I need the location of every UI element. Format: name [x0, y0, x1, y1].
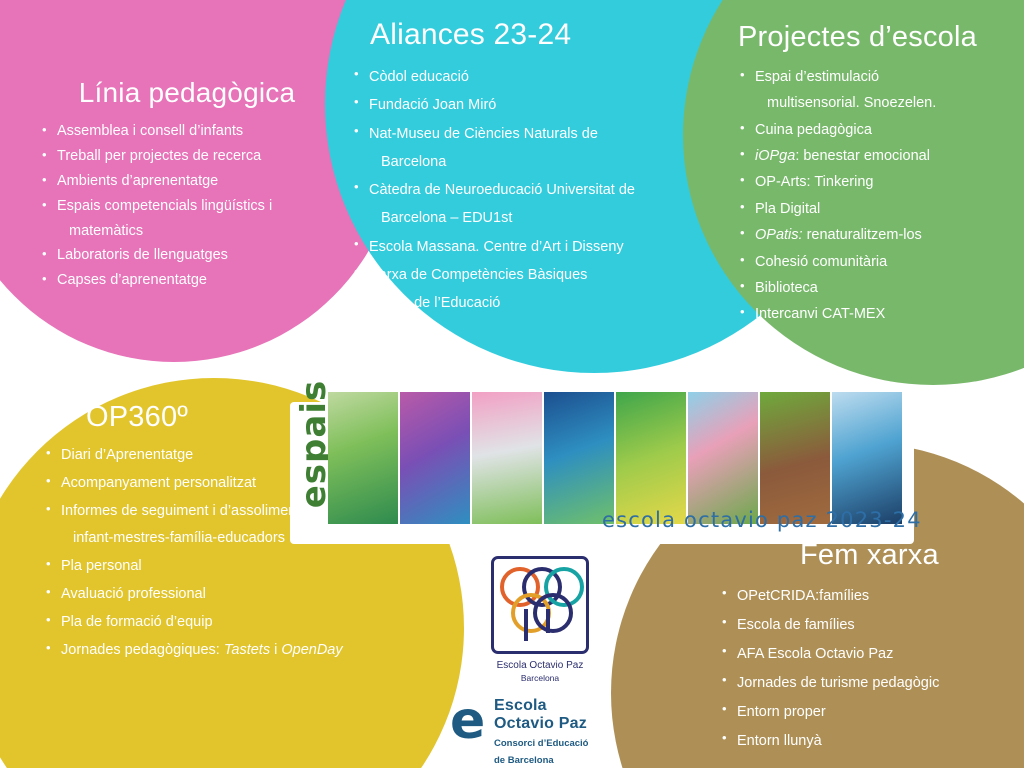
letter-l-tree-icon: L	[760, 392, 830, 524]
letter-a-coral-icon: A	[400, 392, 470, 524]
list-item: Entorn llunyà	[706, 727, 1024, 756]
panel-aliances: Aliances 23-24 Còdol educació Fundació J…	[352, 18, 682, 317]
consorci-e-glyph-icon: e	[450, 699, 492, 743]
list-aliances: Còdol educació Fundació Joan Miró Nat-Mu…	[352, 63, 682, 317]
panel-title-projectes: Projectes d’escola	[738, 22, 1024, 54]
list-item: Futurs de l’Educació	[352, 289, 682, 317]
panel-linia-pedagogica: Línia pedagògica Assemblea i consell d’i…	[40, 78, 340, 293]
consorci-line2: Octavio Paz	[494, 715, 630, 733]
list-item: Capses d’aprenentatge	[40, 268, 340, 293]
list-item-continuation: multisensorial. Snoezelen.	[738, 90, 1024, 116]
list-item: Intercanvi CAT-MEX	[738, 301, 1024, 327]
letter-r-recycle-icon: R	[616, 392, 686, 524]
list-linia: Assemblea i consell d’infants Treball pe…	[40, 119, 340, 294]
list-item: Pla personal	[44, 553, 404, 581]
letter-n-leaves-icon: N	[328, 392, 398, 524]
list-fem-xarxa: OPetCRIDA:famílies Escola de famílies AF…	[706, 582, 1024, 756]
op-logo-caption: Escola Octavio Paz Barcelona	[450, 660, 630, 683]
emphasis-opatis: OPatis:	[755, 227, 803, 243]
list-item-text: : benestar emocional	[795, 148, 930, 164]
list-item-text: Jornades pedagògiques:	[61, 642, 224, 658]
letter-s-birds-icon: S	[832, 392, 902, 524]
list-item: Nat-Museu de Ciències Naturals de	[352, 120, 682, 148]
list-item: Xarxa de Competències Bàsiques	[352, 261, 682, 289]
list-item-iopga: iOPga: benestar emocional	[738, 143, 1024, 169]
naturals-letters: N A T U R A L S	[328, 374, 904, 524]
list-item: Escola de famílies	[706, 611, 1024, 640]
list-item: Pla de formació d’equip	[44, 609, 404, 637]
list-item: Escola Massana. Centre d’Art i Disseny	[352, 233, 682, 261]
list-item: Laboratoris de llenguatges	[40, 243, 340, 268]
op-rings-logo-icon	[491, 556, 589, 654]
naturals-artwork: espais N A T U R A L S escola octavio pa…	[272, 368, 932, 548]
letter-a-flamingo-icon: A	[688, 392, 758, 524]
poster-canvas: Línia pedagògica Assemblea i consell d’i…	[0, 0, 1024, 768]
list-item: Jornades de turisme pedagògic	[706, 669, 1024, 698]
consorci-subtitle1: Consorci d’Educació	[494, 738, 630, 750]
list-item-jornades: Jornades pedagògiques: Tastets i OpenDay	[44, 637, 404, 665]
list-item: Entorn proper	[706, 698, 1024, 727]
list-item: Assemblea i consell d’infants	[40, 119, 340, 144]
list-item-continuation: Barcelona	[352, 148, 682, 176]
op-logo-school-name: Escola Octavio Paz	[450, 660, 630, 673]
emphasis-iopga: iOPga	[755, 148, 795, 164]
list-item: Biblioteca	[738, 275, 1024, 301]
op-logo-city: Barcelona	[450, 673, 630, 684]
list-item-text: renaturalitzem-los	[803, 227, 922, 243]
panel-title-aliances: Aliances 23-24	[352, 18, 682, 51]
letter-t-windmill-icon: T	[472, 392, 542, 524]
list-item: Avaluació professional	[44, 581, 404, 609]
school-logo-block: Escola Octavio Paz Barcelona e Escola Oc…	[450, 556, 630, 768]
list-item-opatis: OPatis: renaturalitzem-los	[738, 222, 1024, 248]
letter-u-water-icon: U	[544, 392, 614, 524]
list-item: AFA Escola Octavio Paz	[706, 640, 1024, 669]
list-item: Cohesió comunitària	[738, 249, 1024, 275]
list-item: Càtedra de Neuroeducació Universitat de	[352, 176, 682, 204]
panel-projectes-escola: Projectes d’escola Espai d’estimulació m…	[738, 22, 1024, 328]
list-item-continuation: matemàtics	[40, 219, 340, 244]
panel-fem-xarxa: Fem xarxa OPetCRIDA:famílies Escola de f…	[706, 540, 1024, 756]
consorci-subtitle2: de Barcelona	[494, 755, 630, 767]
list-item: Cuina pedagògica	[738, 117, 1024, 143]
emphasis-tastets: Tastets	[224, 642, 270, 658]
ring-navy-lower-icon	[533, 593, 573, 633]
panel-title-linia: Línia pedagògica	[34, 78, 340, 109]
consorci-line1: Escola	[494, 697, 630, 715]
list-item: Espais competencials lingüístics i	[40, 194, 340, 219]
list-item: Còdol educació	[352, 63, 682, 91]
list-item: OP-Arts: Tinkering	[738, 169, 1024, 195]
list-item: Ambients d’aprenentatge	[40, 169, 340, 194]
list-item: Fundació Joan Miró	[352, 91, 682, 119]
list-projectes: Espai d’estimulació multisensorial. Snoe…	[738, 64, 1024, 328]
list-item-continuation: Barcelona – EDU1st	[352, 204, 682, 232]
consorci-logo: e Escola Octavio Paz Consorci d’Educació…	[450, 697, 630, 768]
emphasis-openday: OpenDay	[281, 642, 342, 658]
list-item: Espai d’estimulació	[738, 64, 1024, 90]
list-item: Treball per projectes de recerca	[40, 144, 340, 169]
artwork-caption: escola octavio paz 2023-24	[602, 508, 922, 532]
list-item-text: i	[270, 642, 281, 658]
list-item: Pla Digital	[738, 196, 1024, 222]
list-item: OPetCRIDA:famílies	[706, 582, 1024, 611]
logo-stem-secondary-icon	[546, 609, 550, 633]
logo-stem-icon	[524, 609, 528, 641]
